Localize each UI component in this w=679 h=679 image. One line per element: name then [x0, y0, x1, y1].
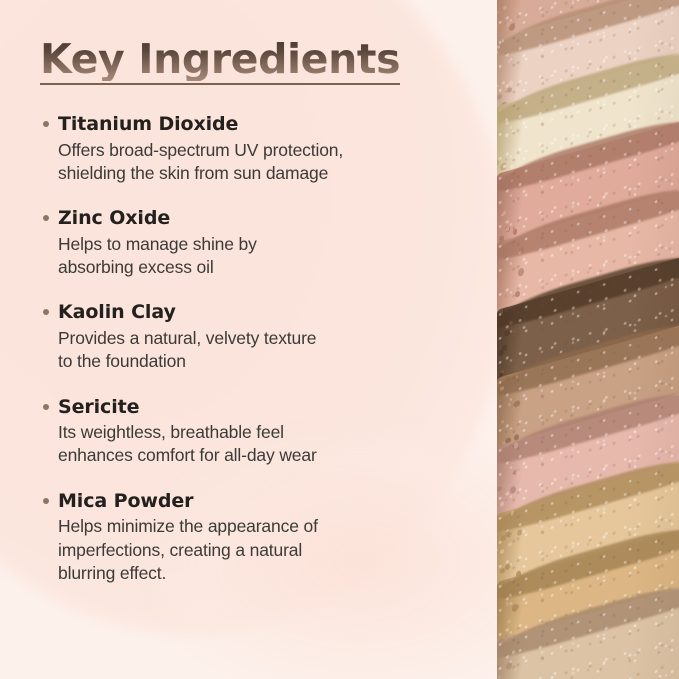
- ingredient-item: SericiteIts weightless, breathable feel …: [40, 395, 460, 468]
- ingredient-name: Mica Powder: [58, 489, 460, 515]
- ingredient-list: Titanium DioxideOffers broad-spectrum UV…: [40, 112, 460, 585]
- bullet-dot-icon: [43, 309, 49, 315]
- ingredient-description: Its weightless, breathable feel enhances…: [58, 421, 460, 468]
- key-ingredients-infographic: Key Ingredients Titanium DioxideOffers b…: [0, 0, 679, 679]
- bullet-dot-icon: [43, 404, 49, 410]
- title-underline: [40, 83, 400, 85]
- ingredient-name: Sericite: [58, 395, 460, 421]
- ingredient-name: Titanium Dioxide: [58, 112, 460, 138]
- page-title-group: Key Ingredients: [40, 38, 400, 85]
- ingredient-description: Provides a natural, velvety texture to t…: [58, 327, 460, 374]
- ingredient-description: Helps to manage shine by absorbing exces…: [58, 233, 460, 280]
- ingredient-item: Zinc OxideHelps to manage shine by absor…: [40, 206, 460, 279]
- ingredient-name: Kaolin Clay: [58, 300, 460, 326]
- ingredient-item: Kaolin ClayProvides a natural, velvety t…: [40, 300, 460, 373]
- bullet-dot-icon: [43, 215, 49, 221]
- page-title: Key Ingredients: [40, 38, 400, 81]
- ingredient-item: Mica PowderHelps minimize the appearance…: [40, 489, 460, 585]
- bullet-dot-icon: [43, 121, 49, 127]
- ingredient-description: Helps minimize the appearance of imperfe…: [58, 515, 460, 585]
- ingredient-description: Offers broad-spectrum UV protection, shi…: [58, 139, 460, 186]
- powder-swatch-column: [497, 0, 679, 679]
- bullet-dot-icon: [43, 498, 49, 504]
- ingredient-name: Zinc Oxide: [58, 206, 460, 232]
- ingredient-item: Titanium DioxideOffers broad-spectrum UV…: [40, 112, 460, 185]
